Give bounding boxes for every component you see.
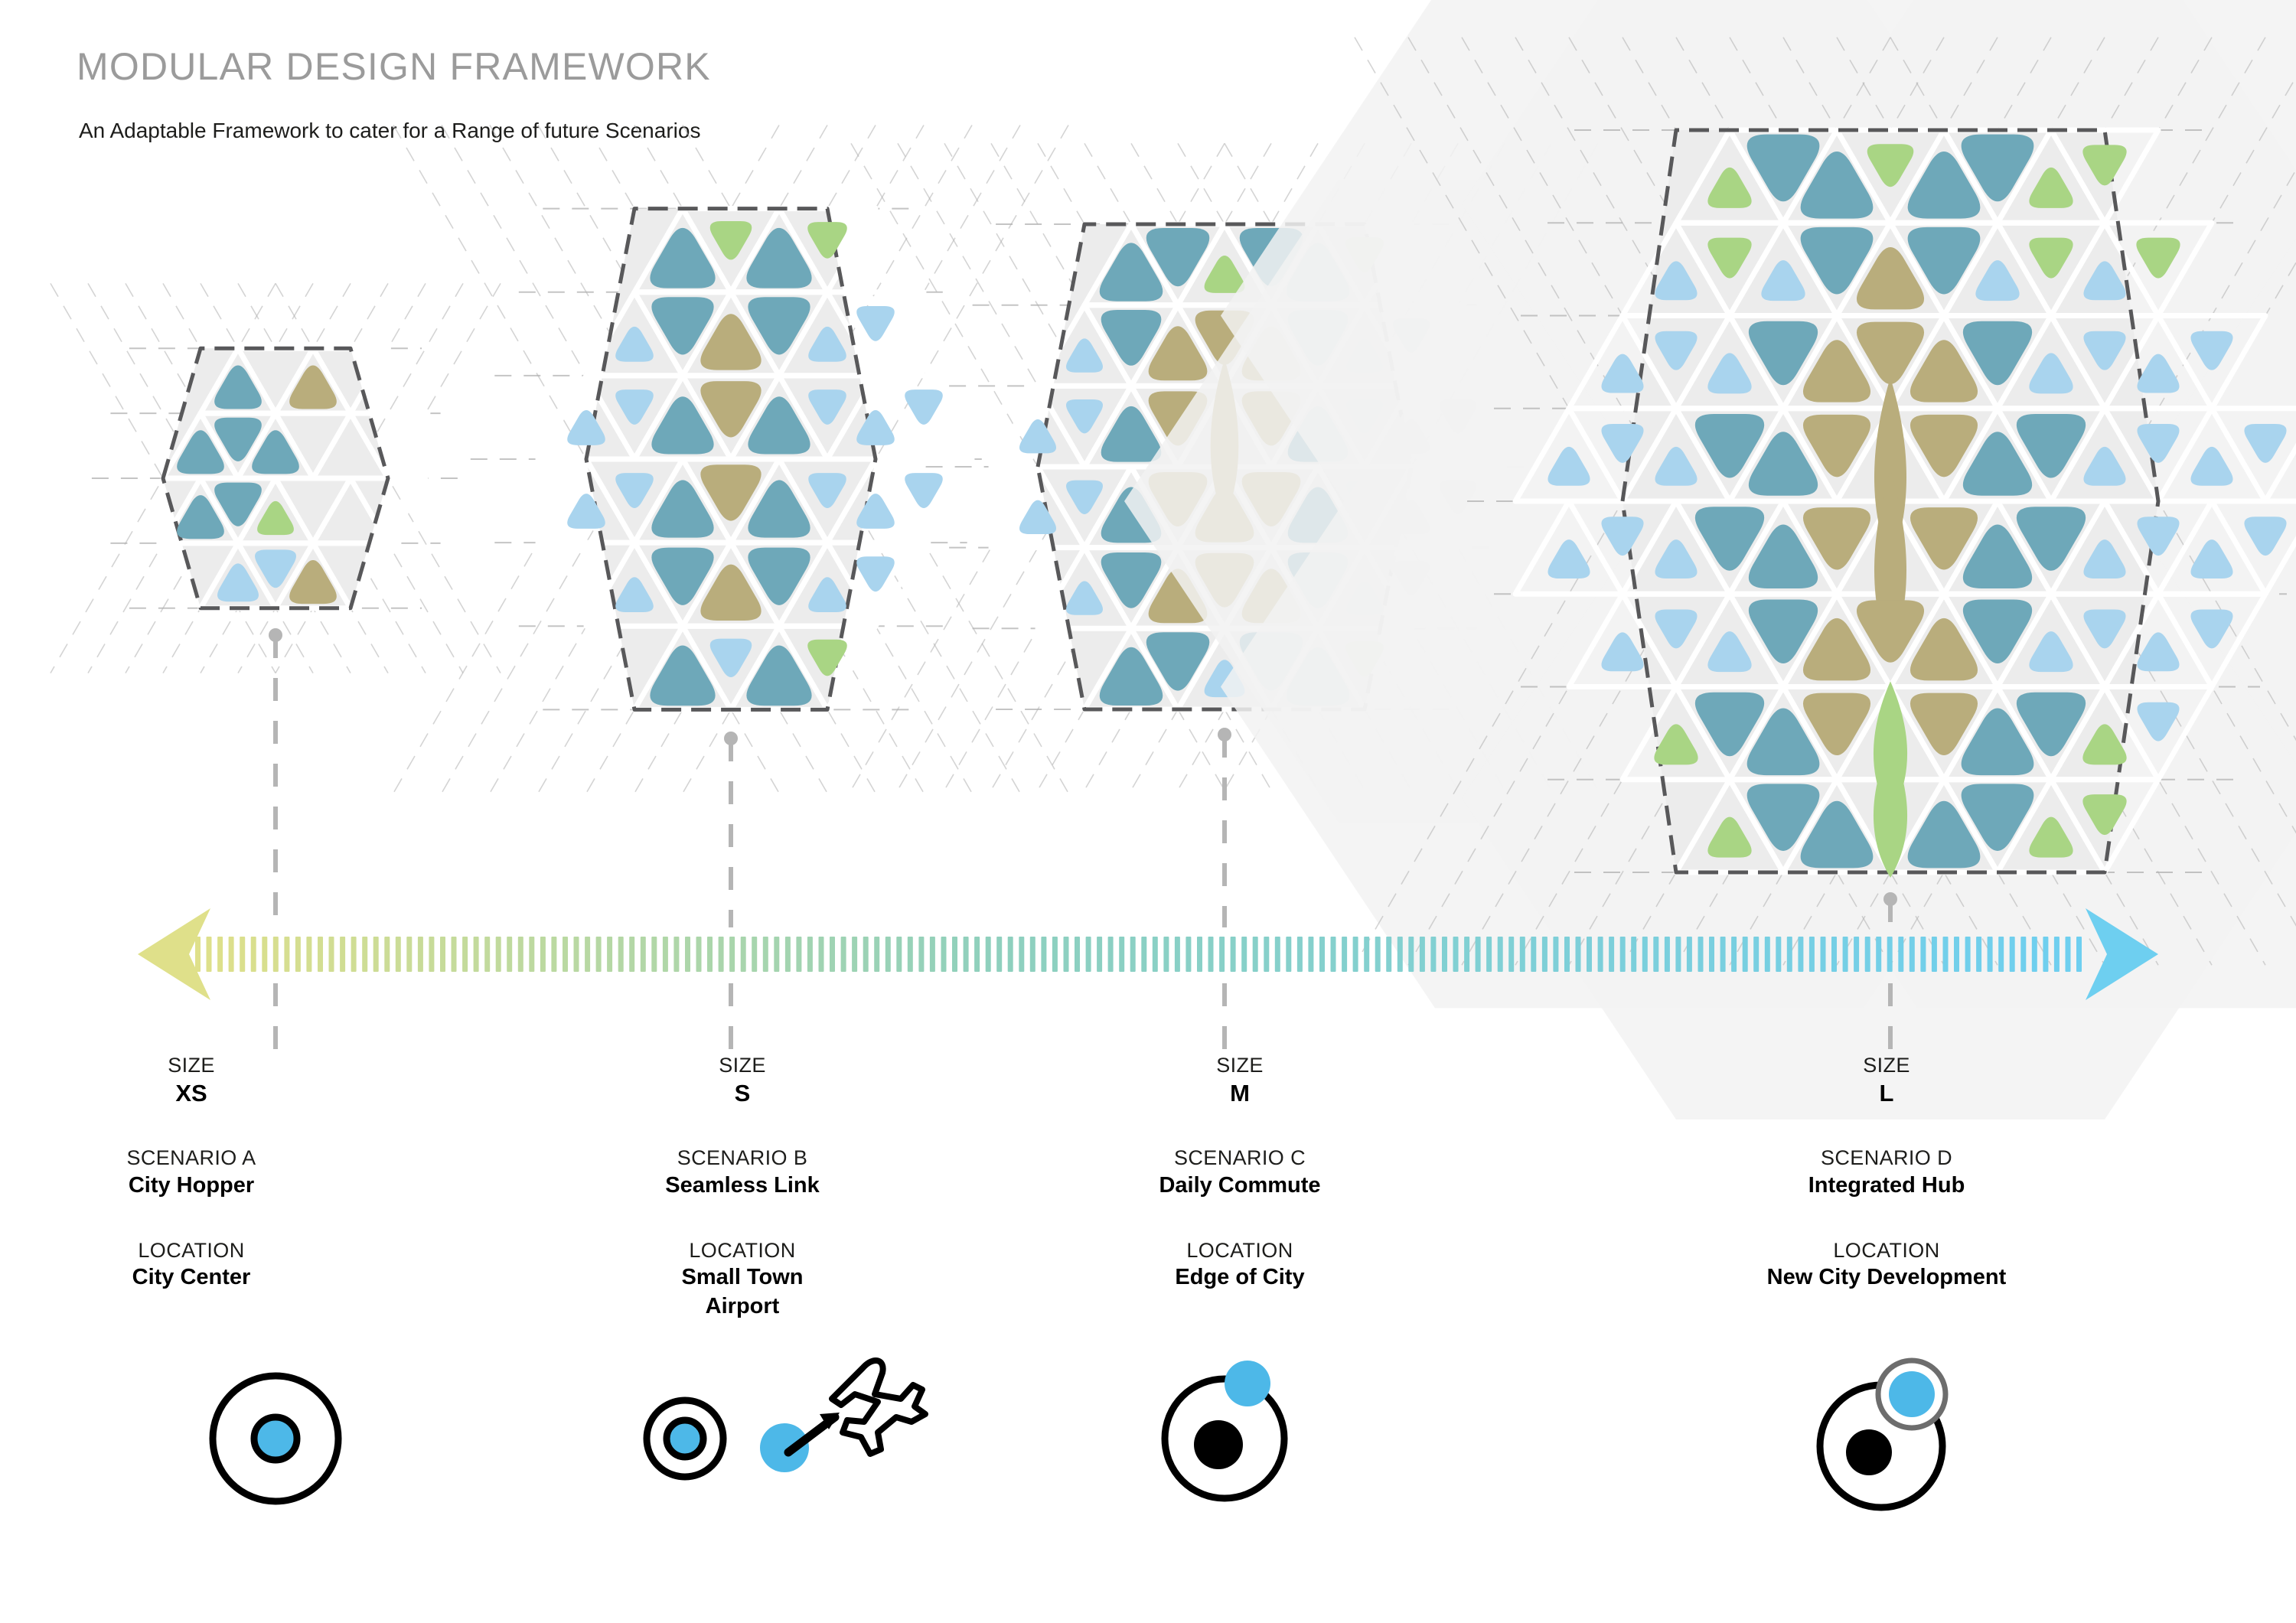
label-block-scenario-d: SIZE L SCENARIO D Integrated Hub LOCATIO… [1695,1052,2078,1292]
scenario-value: Integrated Hub [1695,1172,2078,1201]
location-value: City Center [99,1263,283,1292]
label-block-scenario-a: SIZE XS SCENARIO A City Hopper LOCATION … [99,1052,283,1292]
label-block-scenario-b: SIZE S SCENARIO B Seamless Link LOCATION… [631,1052,853,1321]
scenario-caption: SCENARIO C [1125,1145,1355,1172]
location-value: Edge of City [1125,1263,1355,1292]
size-caption: SIZE [99,1052,283,1079]
location-group: LOCATION City Center [99,1237,283,1292]
modular-framework-diagram [0,0,2296,1623]
location-caption: LOCATION [1695,1237,2078,1264]
size-value: L [1695,1079,2078,1109]
scenario-group: SCENARIO B Seamless Link [631,1145,853,1200]
size-group: SIZE XS [99,1052,283,1108]
satellite-node-icon [760,1423,809,1472]
size-value: S [631,1079,853,1109]
size-value: XS [99,1079,283,1109]
satellite-node-icon [1225,1361,1270,1406]
scenario-group: SCENARIO D Integrated Hub [1695,1145,2078,1200]
scenario-caption: SCENARIO B [631,1145,853,1172]
size-caption: SIZE [1695,1052,2078,1079]
scenario-value: City Hopper [99,1172,283,1201]
center-node-icon [1846,1429,1892,1475]
location-value: Small Town [631,1263,853,1292]
size-caption: SIZE [1125,1052,1355,1079]
location-caption: LOCATION [631,1237,853,1264]
center-node-icon [254,1417,297,1460]
center-node-icon [667,1420,703,1457]
scenario-caption: SCENARIO A [99,1145,283,1172]
location-caption: LOCATION [99,1237,283,1264]
scenario-group: SCENARIO A City Hopper [99,1145,283,1200]
airplane-icon [832,1361,925,1454]
location-group: LOCATION New City Development [1695,1237,2078,1292]
scenario-group: SCENARIO C Daily Commute [1125,1145,1355,1200]
scenario-caption: SCENARIO D [1695,1145,2078,1172]
scenario-value: Seamless Link [631,1172,853,1201]
size-caption: SIZE [631,1052,853,1079]
location-value-line2: Airport [631,1292,853,1322]
scenario-icons-layer [213,1361,1945,1507]
label-block-scenario-c: SIZE M SCENARIO C Daily Commute LOCATION… [1125,1052,1355,1292]
size-group: SIZE S [631,1052,853,1108]
scenario-value: Daily Commute [1125,1172,1355,1201]
location-group: LOCATION Edge of City [1125,1237,1355,1292]
location-caption: LOCATION [1125,1237,1355,1264]
location-group: LOCATION Small Town Airport [631,1237,853,1322]
center-node-icon [1194,1420,1243,1469]
size-value: M [1125,1079,1355,1109]
location-value: New City Development [1695,1263,2078,1292]
size-group: SIZE M [1125,1052,1355,1108]
size-group: SIZE L [1695,1052,2078,1108]
satellite-node-icon [1889,1371,1935,1417]
